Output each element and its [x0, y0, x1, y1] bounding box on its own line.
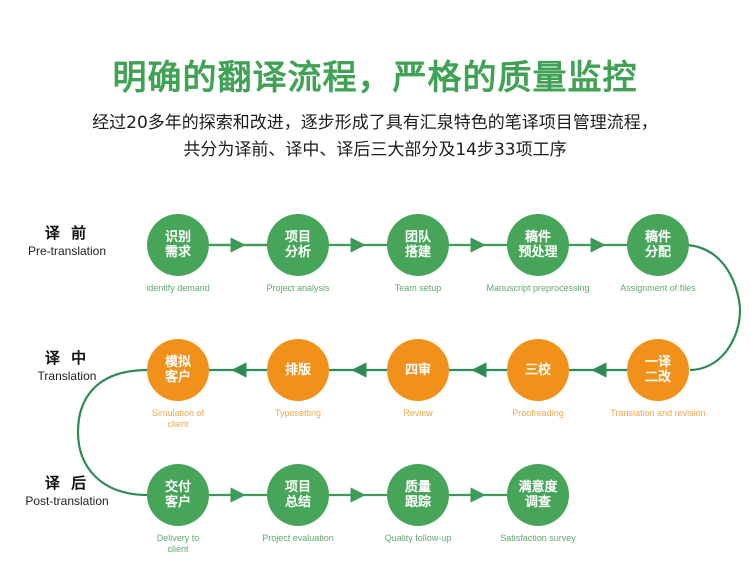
- node-quality-follow-up-cn-2: 跟踪: [405, 495, 431, 510]
- node-review-cn-1: 四审: [405, 363, 431, 378]
- node-assignment-of-files-cn-1: 稿件: [645, 230, 671, 245]
- flowchart-page: 明确的翻译流程，严格的质量监控 经过20多年的探索和改进，逐步形成了具有汇泉特色…: [0, 0, 750, 568]
- node-team-setup[interactable]: 团队 搭建 Team setup: [358, 214, 478, 294]
- node-quality-follow-up-cn-1: 质量: [405, 480, 431, 495]
- node-identify-demand-caption: identify demand: [118, 283, 238, 294]
- node-identify-demand-cn-2: 需求: [165, 245, 191, 260]
- row-label-translation-cn: 译 中: [2, 349, 132, 368]
- node-project-analysis-cn-1: 项目: [285, 230, 311, 245]
- node-team-setup-caption: Team setup: [358, 283, 478, 294]
- node-team-setup-cn-1: 团队: [405, 230, 431, 245]
- node-manuscript-preprocessing-caption: Manuscript preprocessing: [478, 283, 598, 294]
- node-satisfaction-survey[interactable]: 满意度 调查 Satisfaction survey: [478, 464, 598, 544]
- node-manuscript-preprocessing[interactable]: 稿件 预处理 Manuscript preprocessing: [478, 214, 598, 294]
- node-typesetting-cn-1: 排版: [285, 363, 311, 378]
- node-project-analysis-caption: Project analysis: [238, 283, 358, 294]
- node-simulation-of-client[interactable]: 模拟 客户 Simulation of client: [118, 339, 238, 430]
- node-proofreading-cn-1: 三校: [525, 363, 551, 378]
- node-review-caption: Review: [358, 408, 478, 419]
- node-manuscript-preprocessing-bubble[interactable]: 稿件 预处理: [507, 214, 569, 276]
- node-delivery-to-client-cn-1: 交付: [165, 480, 191, 495]
- node-identify-demand-cn-1: 识别: [165, 230, 191, 245]
- node-delivery-to-client-bubble[interactable]: 交付 客户: [147, 464, 209, 526]
- node-simulation-of-client-cn-1: 模拟: [165, 355, 191, 370]
- node-assignment-of-files[interactable]: 稿件 分配 Assignment of files: [598, 214, 718, 294]
- node-project-analysis-bubble[interactable]: 项目 分析: [267, 214, 329, 276]
- row-label-post-translation-en: Post-translation: [2, 493, 132, 510]
- node-satisfaction-survey-bubble[interactable]: 满意度 调查: [507, 464, 569, 526]
- node-quality-follow-up[interactable]: 质量 跟踪 Quality follow-up: [358, 464, 478, 544]
- node-simulation-of-client-cn-2: 客户: [165, 370, 191, 385]
- node-satisfaction-survey-cn-1: 满意度: [518, 480, 557, 495]
- node-project-evaluation-caption: Project evaluation: [238, 533, 358, 544]
- row-label-post-translation-cn: 译 后: [2, 474, 132, 493]
- node-project-evaluation-bubble[interactable]: 项目 总结: [267, 464, 329, 526]
- node-typesetting-bubble[interactable]: 排版: [267, 339, 329, 401]
- node-delivery-to-client[interactable]: 交付 客户 Delivery to client: [118, 464, 238, 555]
- node-delivery-to-client-cn-2: 客户: [165, 495, 191, 510]
- node-simulation-of-client-bubble[interactable]: 模拟 客户: [147, 339, 209, 401]
- node-project-analysis[interactable]: 项目 分析 Project analysis: [238, 214, 358, 294]
- node-translation-and-revision-caption: Translation and revision: [598, 408, 718, 419]
- node-project-evaluation-cn-2: 总结: [285, 495, 311, 510]
- node-assignment-of-files-cn-2: 分配: [645, 245, 671, 260]
- node-project-evaluation[interactable]: 项目 总结 Project evaluation: [238, 464, 358, 544]
- node-delivery-to-client-caption: Delivery to client: [118, 533, 238, 555]
- node-satisfaction-survey-cn-2: 调查: [525, 495, 551, 510]
- node-simulation-of-client-caption: Simulation of client: [118, 408, 238, 430]
- node-manuscript-preprocessing-cn-2: 预处理: [518, 245, 557, 260]
- row-label-pre-translation-en: Pre-translation: [2, 243, 132, 260]
- node-proofreading-caption: Proofreading: [478, 408, 598, 419]
- node-typesetting[interactable]: 排版 Typesetting: [238, 339, 358, 419]
- node-assignment-of-files-caption: Assignment of files: [598, 283, 718, 294]
- node-quality-follow-up-bubble[interactable]: 质量 跟踪: [387, 464, 449, 526]
- node-review[interactable]: 四审 Review: [358, 339, 478, 419]
- row-label-pre-translation-cn: 译 前: [2, 224, 132, 243]
- node-manuscript-preprocessing-cn-1: 稿件: [525, 230, 551, 245]
- node-proofreading[interactable]: 三校 Proofreading: [478, 339, 598, 419]
- node-proofreading-bubble[interactable]: 三校: [507, 339, 569, 401]
- row-label-translation: 译 中 Translation: [2, 349, 132, 385]
- node-project-analysis-cn-2: 分析: [285, 245, 311, 260]
- node-translation-and-revision-bubble[interactable]: 一译 二改: [627, 339, 689, 401]
- row-label-post-translation: 译 后 Post-translation: [2, 474, 132, 510]
- node-satisfaction-survey-caption: Satisfaction survey: [478, 533, 598, 544]
- node-identify-demand[interactable]: 识别 需求 identify demand: [118, 214, 238, 294]
- node-project-evaluation-cn-1: 项目: [285, 480, 311, 495]
- node-translation-and-revision[interactable]: 一译 二改 Translation and revision: [598, 339, 718, 419]
- node-team-setup-cn-2: 搭建: [405, 245, 431, 260]
- row-label-pre-translation: 译 前 Pre-translation: [2, 224, 132, 260]
- node-review-bubble[interactable]: 四审: [387, 339, 449, 401]
- node-translation-and-revision-cn-1: 一译: [645, 355, 671, 370]
- row-label-translation-en: Translation: [2, 368, 132, 385]
- node-translation-and-revision-cn-2: 二改: [645, 370, 671, 385]
- node-assignment-of-files-bubble[interactable]: 稿件 分配: [627, 214, 689, 276]
- node-identify-demand-bubble[interactable]: 识别 需求: [147, 214, 209, 276]
- node-team-setup-bubble[interactable]: 团队 搭建: [387, 214, 449, 276]
- node-quality-follow-up-caption: Quality follow-up: [358, 533, 478, 544]
- node-typesetting-caption: Typesetting: [238, 408, 358, 419]
